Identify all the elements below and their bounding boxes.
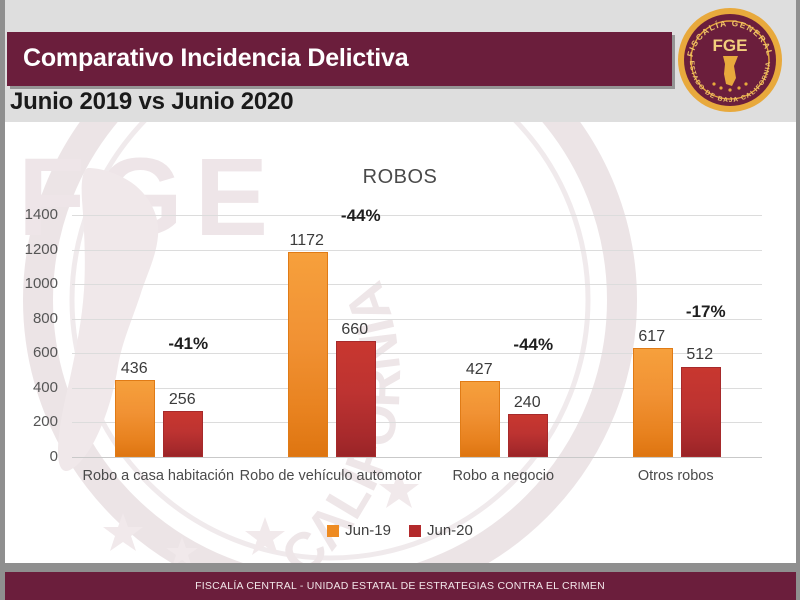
left-edge-strip xyxy=(0,0,5,600)
percent-change-label: -44% xyxy=(492,335,574,355)
bar-value-label: 660 xyxy=(322,321,388,339)
percent-change-label: -44% xyxy=(320,206,402,226)
legend-label: Jun-19 xyxy=(345,522,391,539)
percent-change-label: -41% xyxy=(147,334,229,354)
chart-title: ROBOS xyxy=(0,166,800,189)
bar-value-label: 617 xyxy=(619,328,685,346)
bar-jun-20-0[interactable] xyxy=(163,411,203,457)
legend-item-jun-19[interactable]: Jun-19 xyxy=(327,522,391,539)
footer-bar: FISCALÍA CENTRAL - UNIDAD ESTATAL DE EST… xyxy=(0,572,800,600)
legend-swatch-icon xyxy=(409,525,421,537)
page-title: Comparativo Incidencia Delictiva xyxy=(23,44,408,73)
bar-jun-20-2[interactable] xyxy=(508,414,548,457)
fge-seal-logo: FISCALÍA GENERAL ESTADO DE BAJA CALIFORN… xyxy=(676,6,784,114)
y-axis-tick-label: 200 xyxy=(0,414,58,429)
legend-swatch-icon xyxy=(327,525,339,537)
right-edge-strip xyxy=(796,0,800,600)
y-axis-tick-label: 1400 xyxy=(0,207,58,222)
bar-jun-20-3[interactable] xyxy=(681,367,721,458)
x-axis-category-label: Otros robos xyxy=(572,467,781,487)
bar-value-label: 240 xyxy=(494,394,560,412)
bar-jun-20-1[interactable] xyxy=(336,341,376,457)
gridline xyxy=(72,215,762,216)
axis-baseline xyxy=(72,457,762,458)
bar-jun-19-3[interactable] xyxy=(633,348,673,457)
y-axis-tick-label: 800 xyxy=(0,311,58,326)
y-axis-tick-label: 0 xyxy=(0,449,58,464)
bar-value-label: 427 xyxy=(446,361,512,379)
page-subtitle: Junio 2019 vs Junio 2020 xyxy=(10,88,293,116)
title-bar: Comparativo Incidencia Delictiva xyxy=(7,32,672,86)
seal-center-text: FGE xyxy=(713,36,748,55)
chart-legend: Jun-19Jun-20 xyxy=(0,522,800,539)
footer-text: FISCALÍA CENTRAL - UNIDAD ESTATAL DE EST… xyxy=(195,580,605,592)
chart-area: ROBOS 0200400600800100012001400436256-41… xyxy=(0,122,800,562)
bar-jun-19-1[interactable] xyxy=(288,252,328,457)
chart-plot: 0200400600800100012001400436256-41%Robo … xyxy=(72,215,762,457)
gridline xyxy=(72,250,762,251)
bar-value-label: 512 xyxy=(667,346,733,364)
gridline xyxy=(72,284,762,285)
percent-change-label: -17% xyxy=(665,302,747,322)
footer-divider xyxy=(0,563,800,572)
y-axis-tick-label: 600 xyxy=(0,345,58,360)
legend-label: Jun-20 xyxy=(427,522,473,539)
slide: ÍA GENERAL FGE CALIFORNIA xyxy=(0,0,800,600)
bar-value-label: 256 xyxy=(149,391,215,409)
y-axis-tick-label: 400 xyxy=(0,380,58,395)
y-axis-tick-label: 1200 xyxy=(0,242,58,257)
gridline xyxy=(72,319,762,320)
legend-item-jun-20[interactable]: Jun-20 xyxy=(409,522,473,539)
y-axis-tick-label: 1000 xyxy=(0,276,58,291)
bar-value-label: 436 xyxy=(101,360,167,378)
bar-value-label: 1172 xyxy=(274,232,340,250)
